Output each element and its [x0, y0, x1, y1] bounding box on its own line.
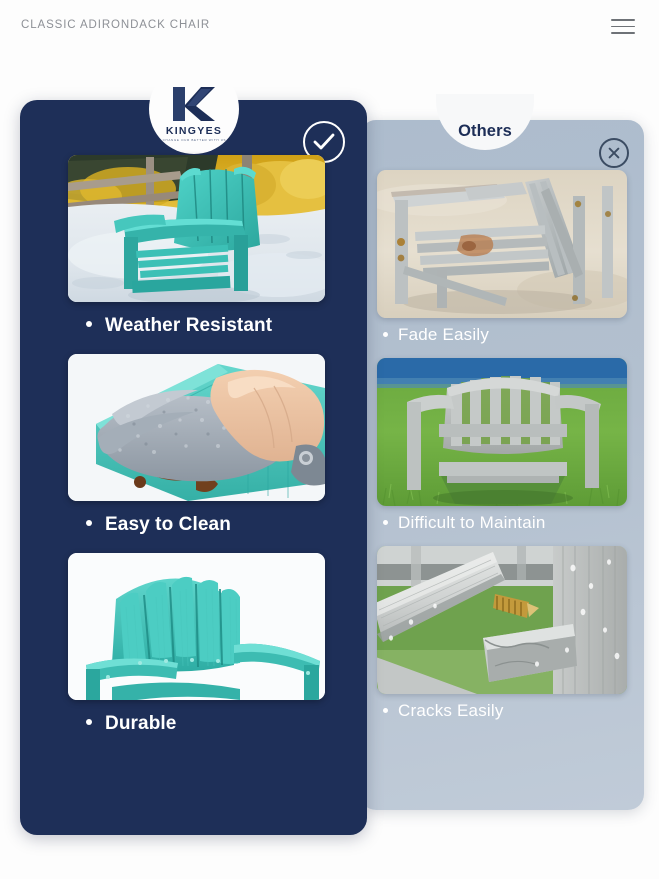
hand-wiping-teal-surface-photo	[68, 354, 325, 501]
list-item-label: Durable	[68, 713, 325, 735]
brand-feature-list: Weather Resistant	[68, 155, 325, 752]
bullet-icon	[86, 321, 92, 327]
others-tab[interactable]: Others	[436, 94, 534, 150]
brand-panel: KINGYES CHANGE OUR BETTER WITH US	[20, 100, 367, 835]
list-item-text: Difficult to Maintain	[398, 513, 546, 532]
kingyes-k-logo-icon	[171, 85, 217, 123]
list-item-label: Easy to Clean	[68, 514, 325, 536]
faded-gray-wood-chair-on-sand-photo	[377, 170, 627, 318]
weathered-gray-chair-on-grass-photo	[377, 358, 627, 506]
brand-logo-badge: KINGYES CHANGE OUR BETTER WITH US	[149, 64, 239, 154]
list-item: Easy to Clean	[68, 354, 325, 536]
teal-adirondack-chair-in-snow-photo	[68, 155, 325, 302]
list-item-text: Weather Resistant	[105, 315, 272, 336]
bullet-icon	[383, 332, 388, 337]
list-item-text: Easy to Clean	[105, 514, 231, 535]
close-circle-icon[interactable]	[599, 138, 629, 168]
list-item-text: Cracks Easily	[398, 701, 504, 720]
list-item-label: Weather Resistant	[68, 315, 325, 337]
list-item: Fade Easily	[377, 170, 627, 345]
page-header: CLASSIC ADIRONDACK CHAIR	[0, 0, 659, 52]
others-panel: Others	[360, 120, 644, 810]
others-feature-list: Fade Easily	[377, 170, 627, 734]
list-item: Durable	[68, 553, 325, 735]
bullet-icon	[383, 520, 388, 525]
bullet-icon	[86, 520, 92, 526]
bullet-icon	[86, 719, 92, 725]
teal-chair-back-closeup-photo	[68, 553, 325, 700]
bullet-icon	[383, 708, 388, 713]
hamburger-menu-icon[interactable]	[611, 19, 635, 35]
list-item-label: Fade Easily	[377, 325, 627, 345]
list-item-label: Difficult to Maintain	[377, 513, 627, 533]
product-comparison-page: CLASSIC ADIRONDACK CHAIR Others	[0, 0, 659, 879]
list-item-text: Fade Easily	[398, 325, 489, 344]
list-item-label: Cracks Easily	[377, 701, 627, 721]
brand-wordmark: KINGYES	[166, 125, 222, 137]
page-title: CLASSIC ADIRONDACK CHAIR	[21, 19, 210, 31]
list-item: Cracks Easily	[377, 546, 627, 721]
list-item: Difficult to Maintain	[377, 358, 627, 533]
cracked-gray-wood-plank-photo	[377, 546, 627, 694]
brand-tagline: CHANGE OUR BETTER WITH US	[162, 138, 226, 142]
list-item: Weather Resistant	[68, 155, 325, 337]
others-tab-label: Others	[458, 122, 512, 141]
list-item-text: Durable	[105, 713, 176, 734]
